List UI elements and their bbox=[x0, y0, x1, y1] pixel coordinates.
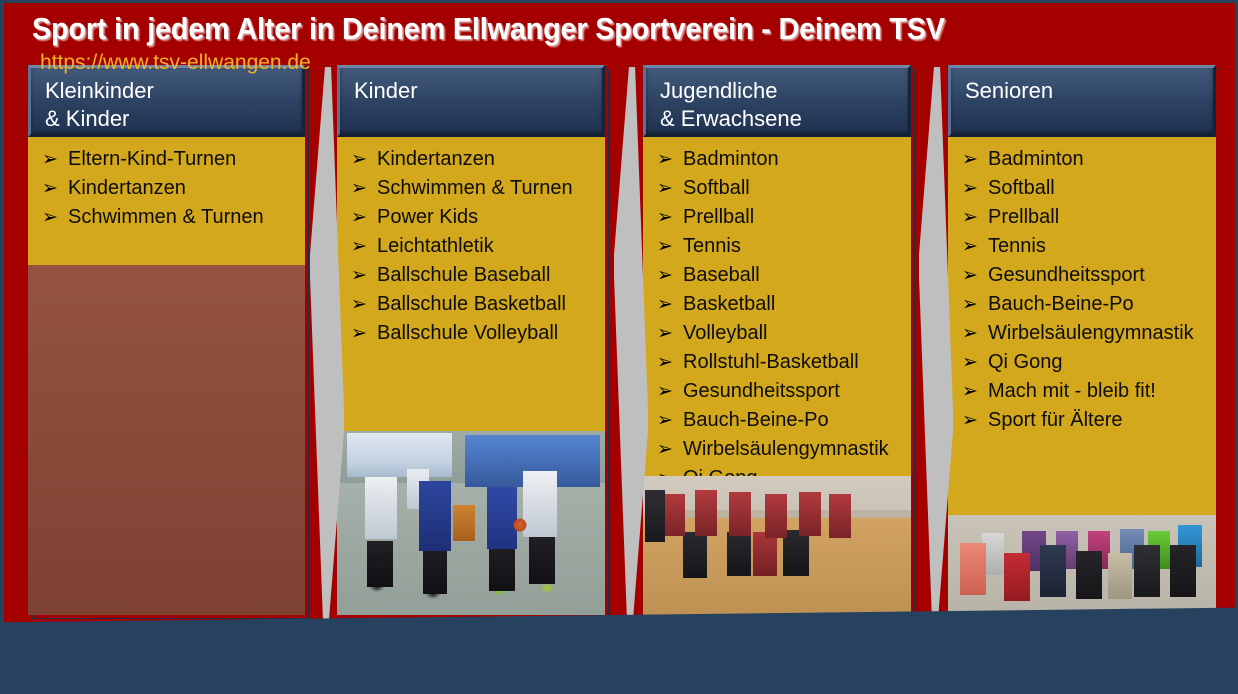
arrow-bullet-icon: ➢ bbox=[962, 378, 988, 406]
list-item[interactable]: ➢ Badminton bbox=[643, 145, 911, 174]
category-column-kinder[interactable]: Kinder ➢ Kindertanzen ➢ Schwimmen & Turn… bbox=[337, 65, 605, 615]
category-column-senioren[interactable]: Senioren ➢ Badminton ➢ Softball ➢ Prellb… bbox=[948, 65, 1216, 675]
list-item-label: Baseball bbox=[683, 261, 760, 289]
photo-kinder-basketball bbox=[337, 431, 605, 615]
arrow-bullet-icon: ➢ bbox=[657, 233, 683, 261]
arrow-bullet-icon: ➢ bbox=[657, 291, 683, 319]
photo-kleinkinder-eltern-kind-turnen bbox=[28, 265, 305, 615]
arrow-bullet-icon: ➢ bbox=[42, 175, 68, 203]
arrow-bullet-icon: ➢ bbox=[657, 320, 683, 348]
page-title: Sport in jedem Alter in Deinem Ellwanger… bbox=[32, 11, 945, 47]
slide-canvas: Sport in jedem Alter in Deinem Ellwanger… bbox=[0, 0, 1238, 694]
arrow-bullet-icon: ➢ bbox=[657, 262, 683, 290]
list-item-label: Qi Gong bbox=[988, 348, 1062, 376]
list-item[interactable]: ➢ Basketball bbox=[643, 290, 911, 319]
arrow-bullet-icon: ➢ bbox=[351, 262, 377, 290]
column-header-line-1: Kinder bbox=[354, 77, 602, 105]
list-item[interactable]: ➢ Bauch-Beine-Po bbox=[948, 290, 1216, 319]
arrow-bullet-icon: ➢ bbox=[351, 233, 377, 261]
list-item-label: Rollstuhl-Basketball bbox=[683, 348, 859, 376]
website-url-link[interactable]: https://www.tsv-ellwangen.de bbox=[40, 51, 311, 75]
arrow-bullet-icon: ➢ bbox=[657, 175, 683, 203]
list-item-label: Ballschule Basketball bbox=[377, 290, 566, 318]
list-item[interactable]: ➢ Prellball bbox=[643, 203, 911, 232]
column-header-jugendliche-erwachsene: Jugendliche & Erwachsene bbox=[643, 65, 911, 137]
column-header-kinder: Kinder bbox=[337, 65, 605, 137]
list-item[interactable]: ➢ Tennis bbox=[948, 232, 1216, 261]
arrow-bullet-icon: ➢ bbox=[351, 175, 377, 203]
list-item-label: Basketball bbox=[683, 290, 775, 318]
list-item-label: Ballschule Volleyball bbox=[377, 319, 558, 347]
column-body-senioren: ➢ Badminton ➢ Softball ➢ Prellball ➢ Ten… bbox=[948, 137, 1216, 515]
list-item-label: Gesundheitssport bbox=[683, 377, 840, 405]
category-column-jugendliche-erwachsene[interactable]: Jugendliche & Erwachsene ➢ Badminton ➢ S… bbox=[643, 65, 911, 615]
list-item[interactable]: ➢ Tennis bbox=[643, 232, 911, 261]
arrow-bullet-icon: ➢ bbox=[657, 146, 683, 174]
column-body-kinder: ➢ Kindertanzen ➢ Schwimmen & Turnen ➢ Po… bbox=[337, 137, 605, 431]
arrow-bullet-icon: ➢ bbox=[962, 233, 988, 261]
column-header-line-2: & Kinder bbox=[45, 105, 302, 133]
list-item[interactable]: ➢ Bauch-Beine-Po bbox=[643, 406, 911, 435]
arrow-bullet-icon: ➢ bbox=[962, 146, 988, 174]
list-item-label: Badminton bbox=[988, 145, 1084, 173]
column-body-jugendliche-erwachsene: ➢ Badminton ➢ Softball ➢ Prellball ➢ Ten… bbox=[643, 137, 911, 476]
list-item[interactable]: ➢ Badminton bbox=[948, 145, 1216, 174]
arrow-bullet-icon: ➢ bbox=[42, 146, 68, 174]
arrow-bullet-icon: ➢ bbox=[962, 175, 988, 203]
list-item-label: Schwimmen & Turnen bbox=[377, 174, 573, 202]
list-item[interactable]: ➢ Qi Gong bbox=[948, 348, 1216, 377]
arrow-bullet-icon: ➢ bbox=[42, 204, 68, 232]
arrow-bullet-icon: ➢ bbox=[351, 291, 377, 319]
list-item-label: Volleyball bbox=[683, 319, 768, 347]
column-header-line-2: & Erwachsene bbox=[660, 105, 908, 133]
list-item[interactable]: ➢ Prellball bbox=[948, 203, 1216, 232]
list-item[interactable]: ➢ Leichtathletik bbox=[337, 232, 605, 261]
arrow-bullet-icon: ➢ bbox=[962, 320, 988, 348]
arrow-bullet-icon: ➢ bbox=[962, 262, 988, 290]
photo-jugend-volleyball-team bbox=[643, 476, 911, 615]
list-item-label: Softball bbox=[988, 174, 1055, 202]
column-header-line-1: Kleinkinder bbox=[45, 77, 302, 105]
list-item-label: Tennis bbox=[988, 232, 1046, 260]
list-item-label: Wirbelsäulengymnastik bbox=[683, 435, 889, 463]
arrow-bullet-icon: ➢ bbox=[657, 436, 683, 464]
list-item-label: Bauch-Beine-Po bbox=[988, 290, 1134, 318]
arrow-bullet-icon: ➢ bbox=[351, 204, 377, 232]
list-item[interactable]: ➢ Kindertanzen bbox=[337, 145, 605, 174]
list-item[interactable]: ➢ Power Kids bbox=[337, 203, 605, 232]
list-item-label: Sport für Ältere bbox=[988, 406, 1123, 434]
list-item-label: Badminton bbox=[683, 145, 779, 173]
arrow-bullet-icon: ➢ bbox=[351, 146, 377, 174]
column-body-kleinkinder-kinder: ➢ Eltern-Kind-Turnen ➢ Kindertanzen ➢ Sc… bbox=[28, 137, 305, 265]
list-item-label: Eltern-Kind-Turnen bbox=[68, 145, 236, 173]
list-item[interactable]: ➢ Schwimmen & Turnen bbox=[337, 174, 605, 203]
list-item[interactable]: ➢ Schwimmen & Turnen bbox=[28, 203, 305, 232]
list-item[interactable]: ➢ Baseball bbox=[643, 261, 911, 290]
list-item-label: Kindertanzen bbox=[377, 145, 495, 173]
column-header-kleinkinder-kinder: Kleinkinder & Kinder bbox=[28, 65, 305, 137]
list-item-label: Prellball bbox=[683, 203, 754, 231]
column-header-senioren: Senioren bbox=[948, 65, 1216, 137]
list-item-label: Softball bbox=[683, 174, 750, 202]
list-item[interactable]: ➢ Wirbelsäulengymnastik bbox=[643, 435, 911, 464]
title-bar: Sport in jedem Alter in Deinem Ellwanger… bbox=[4, 7, 1238, 57]
list-item-label: Kindertanzen bbox=[68, 174, 186, 202]
list-item[interactable]: ➢ Rollstuhl-Basketball bbox=[643, 348, 911, 377]
list-item[interactable]: ➢ Eltern-Kind-Turnen bbox=[28, 145, 305, 174]
list-item[interactable]: ➢ Wirbelsäulengymnastik bbox=[948, 319, 1216, 348]
list-item[interactable]: ➢ Kindertanzen bbox=[28, 174, 305, 203]
column-header-line-1: Senioren bbox=[965, 77, 1213, 105]
arrow-bullet-icon: ➢ bbox=[657, 204, 683, 232]
arrow-bullet-icon: ➢ bbox=[962, 407, 988, 435]
list-item[interactable]: ➢ Ballschule Basketball bbox=[337, 290, 605, 319]
list-item-label: Power Kids bbox=[377, 203, 478, 231]
arrow-bullet-icon: ➢ bbox=[962, 349, 988, 377]
list-item[interactable]: ➢ Softball bbox=[948, 174, 1216, 203]
list-item-label: Leichtathletik bbox=[377, 232, 494, 260]
list-item-label: Wirbelsäulengymnastik bbox=[988, 319, 1194, 347]
list-item[interactable]: ➢ Gesundheitssport bbox=[643, 377, 911, 406]
list-item[interactable]: ➢ Gesundheitssport bbox=[948, 261, 1216, 290]
list-item-label: Ballschule Baseball bbox=[377, 261, 550, 289]
arrow-bullet-icon: ➢ bbox=[962, 291, 988, 319]
list-item[interactable]: ➢ Ballschule Volleyball bbox=[337, 319, 605, 348]
arrow-bullet-icon: ➢ bbox=[657, 407, 683, 435]
list-item-label: Schwimmen & Turnen bbox=[68, 203, 264, 231]
list-item[interactable]: ➢ Mach mit - bleib fit! bbox=[948, 377, 1216, 406]
list-item-label: Gesundheitssport bbox=[988, 261, 1145, 289]
category-column-kleinkinder-kinder[interactable]: Kleinkinder & Kinder ➢ Eltern-Kind-Turne… bbox=[28, 65, 305, 615]
list-item[interactable]: ➢ Softball bbox=[643, 174, 911, 203]
arrow-bullet-icon: ➢ bbox=[962, 204, 988, 232]
footer-band bbox=[4, 602, 1238, 694]
list-item[interactable]: ➢ Sport für Ältere bbox=[948, 406, 1216, 435]
list-item-label: Mach mit - bleib fit! bbox=[988, 377, 1156, 405]
arrow-bullet-icon: ➢ bbox=[657, 378, 683, 406]
column-header-line-1: Jugendliche bbox=[660, 77, 908, 105]
list-item[interactable]: ➢ Ballschule Baseball bbox=[337, 261, 605, 290]
list-item-label: Bauch-Beine-Po bbox=[683, 406, 829, 434]
arrow-bullet-icon: ➢ bbox=[657, 349, 683, 377]
arrow-bullet-icon: ➢ bbox=[351, 320, 377, 348]
list-item-label: Tennis bbox=[683, 232, 741, 260]
list-item[interactable]: ➢ Volleyball bbox=[643, 319, 911, 348]
list-item-label: Prellball bbox=[988, 203, 1059, 231]
